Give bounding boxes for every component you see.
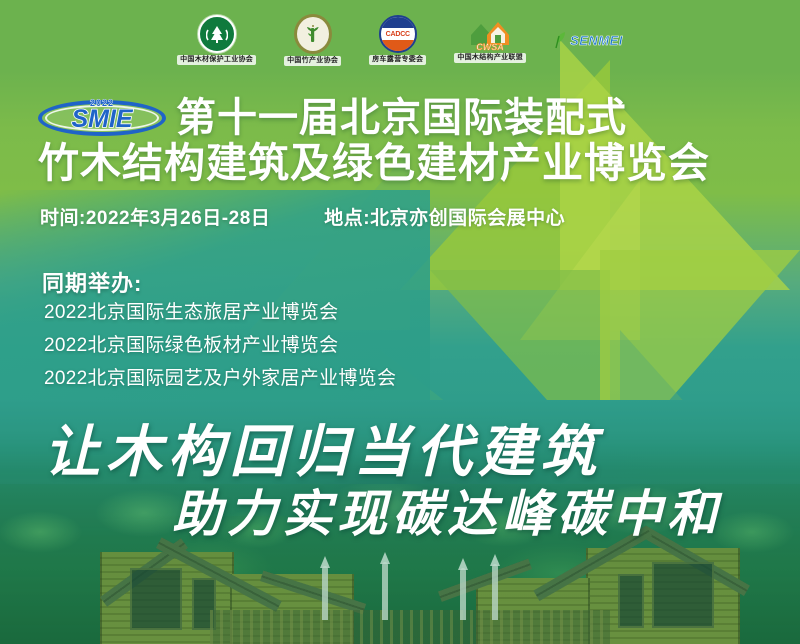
logo-caption: 中国竹产业协会: [284, 56, 341, 65]
cadcc-emblem-text: CADCC: [386, 31, 410, 38]
svg-text:CWSA: CWSA: [476, 42, 504, 51]
cadcc-seal-icon: CADCC: [379, 15, 417, 53]
list-item: 2022北京国际生态旅居产业博览会: [44, 303, 396, 322]
concurrent-events-list: 2022北京国际生态旅居产业博览会 2022北京国际绿色板材产业博览会 2022…: [44, 303, 396, 388]
logo-senmei[interactable]: SENMEI: [554, 30, 623, 50]
seal-bottom-band: [381, 40, 415, 51]
sponsor-logo-strip: 中国木材保护工业协会 中国竹产业协会 CADCC 房车露营专委会: [0, 10, 800, 70]
event-meta-row: 时间:2022年3月26日-28日 地点:北京亦创国际会展中心: [40, 203, 565, 230]
event-date: 时间:2022年3月26日-28日: [40, 203, 270, 230]
house-cwsa-icon: CWSA: [467, 17, 513, 51]
event-title-row: 2022 SMIE 第十一届北京国际装配式: [38, 96, 627, 140]
logo-caption: 中国木材保护工业协会: [177, 55, 256, 64]
smie-year-label: 2022: [38, 98, 166, 108]
exhibition-banner: 中国木材保护工业协会 中国竹产业协会 CADCC 房车露营专委会: [0, 0, 800, 644]
logo-cadcc-rv-camping-committee[interactable]: CADCC 房车露营专委会: [369, 15, 426, 64]
page-title-line-1: 第十一届北京国际装配式: [176, 98, 627, 138]
bamboo-seal-icon: [294, 14, 332, 54]
seal-top-band: [381, 17, 415, 28]
list-item: 2022北京国际绿色板材产业博览会: [44, 336, 396, 355]
logo-china-timber-protection-association[interactable]: 中国木材保护工业协会: [177, 15, 256, 64]
tree-seal-icon: [198, 15, 236, 53]
slogan-line-2: 助力实现碳达峰碳中和: [172, 489, 722, 539]
smie-event-logo[interactable]: 2022 SMIE: [38, 96, 166, 140]
logo-bamboo-industry-association[interactable]: 中国竹产业协会: [284, 14, 341, 65]
logo-caption: 房车露营专委会: [369, 55, 426, 64]
logo-caption: 中国木结构产业联盟: [454, 53, 526, 62]
smie-acronym: SMIE: [38, 107, 166, 132]
page-title-line-2: 竹木结构建筑及绿色建材产业博览会: [38, 143, 710, 184]
senmei-emblem-text: SENMEI: [570, 33, 623, 48]
list-item: 2022北京国际园艺及户外家居产业博览会: [44, 369, 396, 388]
concurrent-events-heading: 同期举办:: [42, 266, 142, 298]
leaf-senmei-icon: SENMEI: [554, 30, 623, 50]
logo-cwsa-wood-structure-alliance[interactable]: CWSA 中国木结构产业联盟: [454, 17, 526, 62]
event-venue: 地点:北京亦创国际会展中心: [324, 203, 565, 230]
slogan-line-1: 让木构回归当代建筑: [44, 424, 602, 480]
